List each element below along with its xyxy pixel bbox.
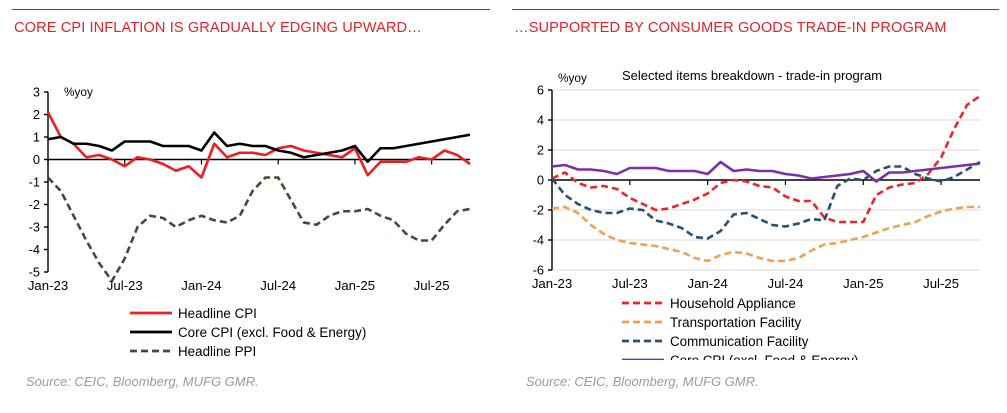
legend-label-2: Communication Facility	[670, 334, 809, 349]
x-axis-tick-label: Jan-23	[28, 278, 68, 293]
series-line-3	[552, 162, 980, 182]
series-line-1	[552, 207, 980, 261]
panel-left-chart: %yoy3210-1-2-3-4-5Jan-23Jul-23Jan-24Jul-…	[12, 70, 502, 360]
x-axis-tick-label: Jan-23	[532, 276, 572, 291]
y-axis-tick-label: 0	[33, 152, 40, 167]
y-axis-tick-label: 6	[537, 83, 544, 98]
y-axis-tick-label: 1	[33, 130, 40, 145]
panel-left-source: Source: CEIC, Bloomberg, MUFG GMR.	[26, 374, 259, 389]
panel-right: …SUPPORTED BY CONSUMER GOODS TRADE-IN PR…	[512, 0, 1002, 413]
chart-svg-left: %yoy3210-1-2-3-4-5Jan-23Jul-23Jan-24Jul-…	[12, 70, 502, 360]
slide-page: CORE CPI INFLATION IS GRADUALLY EDGING U…	[0, 0, 1007, 413]
x-axis-tick-label: Jul-23	[612, 276, 648, 291]
legend-label-0: Household Appliance	[670, 296, 796, 311]
y-axis-tick-label: -4	[29, 242, 40, 257]
x-axis-tick-label: Jul-25	[414, 278, 450, 293]
x-axis-tick-label: Jan-24	[181, 278, 221, 293]
legend-label-3: Core CPI (excl. Food & Energy)	[670, 353, 858, 360]
legend-label-1: Transportation Facility	[670, 315, 802, 330]
y-axis-tick-label: 2	[33, 107, 40, 122]
chart-svg-right: %yoySelected items breakdown - trade-in …	[512, 70, 1002, 360]
y-axis-tick-label: 4	[537, 113, 544, 128]
x-axis-tick-label: Jan-24	[687, 276, 727, 291]
x-axis-tick-label: Jul-24	[260, 278, 296, 293]
y-axis-unit-label: %yoy	[64, 85, 93, 99]
x-axis-tick-label: Jul-24	[767, 276, 803, 291]
x-axis-tick-label: Jul-25	[923, 276, 959, 291]
y-axis-tick-label: 0	[537, 173, 544, 188]
panel-left-title: CORE CPI INFLATION IS GRADUALLY EDGING U…	[14, 19, 484, 38]
y-axis-tick-label: -2	[29, 197, 40, 212]
legend-label-0: Headline CPI	[178, 306, 257, 321]
y-axis-unit-label: %yoy	[558, 71, 587, 85]
panel-left: CORE CPI INFLATION IS GRADUALLY EDGING U…	[12, 0, 502, 413]
x-axis-tick-label: Jan-25	[335, 278, 375, 293]
y-axis-tick-label: -4	[533, 233, 544, 248]
series-line-1	[48, 133, 470, 162]
legend-label-1: Core CPI (excl. Food & Energy)	[178, 325, 366, 340]
y-axis-tick-label: -3	[29, 220, 40, 235]
panel-right-chart: %yoySelected items breakdown - trade-in …	[512, 70, 1002, 360]
y-axis-tick-label: 2	[537, 143, 544, 158]
panel-right-top-rule	[512, 9, 999, 10]
legend-label-2: Headline PPI	[178, 344, 256, 359]
chart-subtitle: Selected items breakdown - trade-in prog…	[622, 70, 882, 83]
panel-right-title: …SUPPORTED BY CONSUMER GOODS TRADE-IN PR…	[514, 19, 984, 38]
y-axis-tick-label: -1	[29, 175, 40, 190]
y-axis-tick-label: -2	[533, 203, 544, 218]
x-axis-tick-label: Jul-23	[107, 278, 143, 293]
y-axis-tick-label: 3	[33, 85, 40, 100]
x-axis-tick-label: Jan-25	[843, 276, 883, 291]
series-line-2	[48, 178, 470, 282]
panel-left-top-rule	[12, 9, 490, 10]
panel-right-source: Source: CEIC, Bloomberg, MUFG GMR.	[526, 374, 759, 389]
series-line-0	[552, 96, 980, 222]
